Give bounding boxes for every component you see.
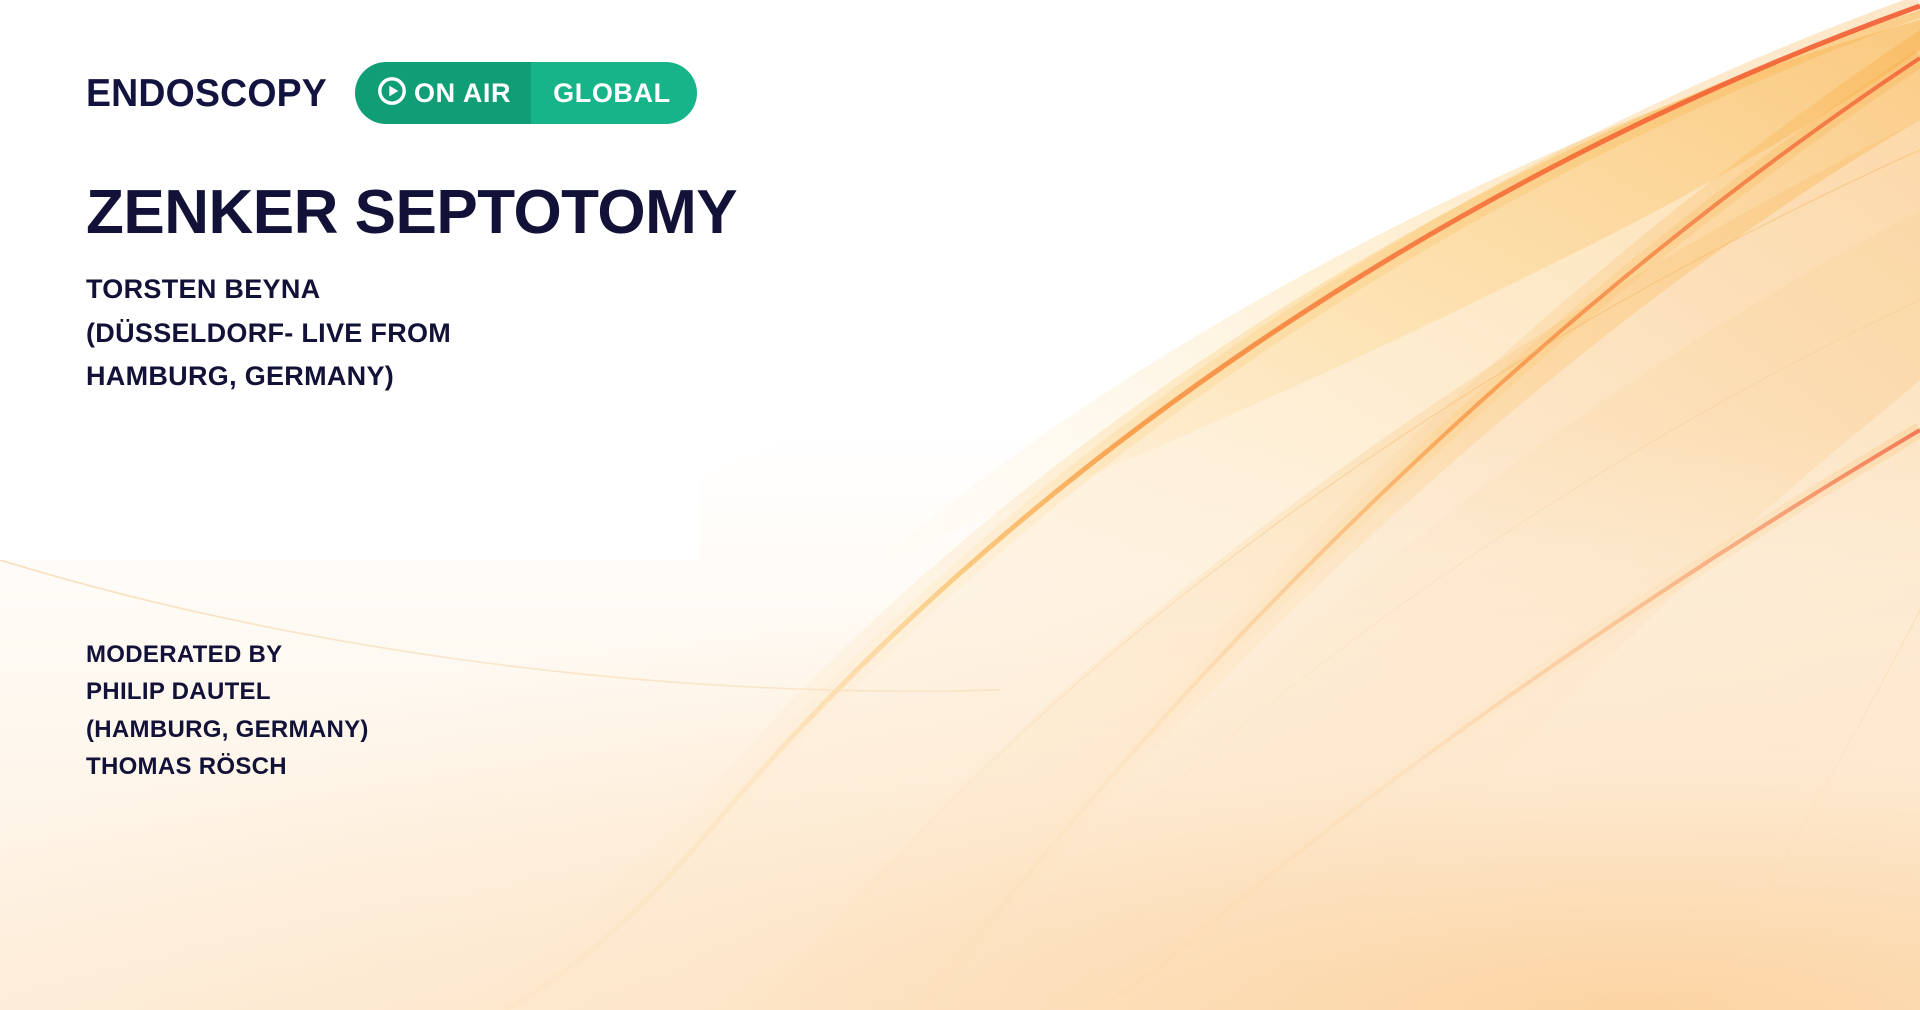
presenter-block: TORSTEN BEYNA (DÜSSELDORF- LIVE FROM HAM… [86,268,451,399]
global-label: GLOBAL [553,80,671,107]
on-air-global-badge: ON AIR GLOBAL [355,62,697,124]
play-circle-icon [377,76,407,111]
brand-logo-row: ENDOSCOPY ON AIR GLOBAL [86,62,697,124]
presenter-line-2: (DÜSSELDORF- LIVE FROM [86,312,451,356]
moderator-line-2: (HAMBURG, GERMANY) [86,711,369,748]
global-segment: GLOBAL [531,62,697,124]
brand-wordmark: ENDOSCOPY [86,74,327,113]
moderator-block: MODERATED BY PHILIP DAUTEL (HAMBURG, GER… [86,636,369,786]
on-air-segment: ON AIR [355,62,531,124]
on-air-label: ON AIR [414,80,511,107]
moderator-line-1: PHILIP DAUTEL [86,673,369,710]
presenter-line-3: HAMBURG, GERMANY) [86,355,451,399]
presenter-line-1: TORSTEN BEYNA [86,268,451,312]
slide-stage: ENDOSCOPY ON AIR GLOBAL ZENKER SEPTO [0,0,1920,1010]
moderated-by-heading: MODERATED BY [86,636,369,673]
moderator-line-3: THOMAS RÖSCH [86,748,369,785]
session-title: ZENKER SEPTOTOMY [86,182,737,244]
slide-content: ENDOSCOPY ON AIR GLOBAL ZENKER SEPTO [0,0,1920,1010]
